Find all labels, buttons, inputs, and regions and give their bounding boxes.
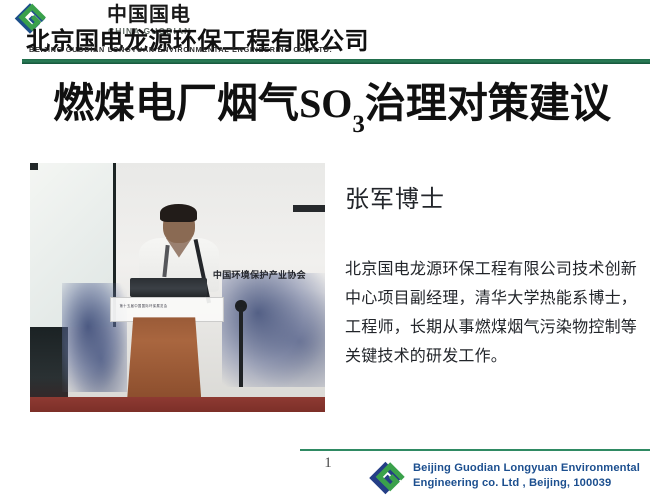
speaker-name: 张军博士 <box>345 185 445 215</box>
brand-header: 中国国电 CHINA GUODIAN 北京国电龙源环保工程有限公司 BEIJIN… <box>0 0 664 70</box>
photo-backdrop-text: 中国环境保护产业协会 <box>213 268 306 281</box>
speaker-photo: 第十五届中国国际环保展览会 中国环境保护产业协会 <box>30 163 325 412</box>
title-part-1: 燃煤电厂烟气 <box>53 80 299 126</box>
footer-line-2: Engineering co. Ltd , Beijing, 100039 <box>413 476 663 491</box>
slide-title: 燃煤电厂烟气SO3治理对策建议 <box>0 78 664 144</box>
photo-podium <box>127 317 201 397</box>
footer-guodian-logo-icon <box>367 461 407 495</box>
photo-banner-text: 第十五届中国国际环保展览会 <box>120 303 168 308</box>
footer-company-text: Beijing Guodian Longyuan Environmental E… <box>413 461 663 491</box>
footer-divider <box>300 449 650 451</box>
photo-screen-shadow <box>30 163 38 170</box>
title-part-2: 治理对策建议 <box>365 80 611 126</box>
photo-speaker-hair <box>160 204 197 221</box>
title-formula-subscript: 3 <box>352 111 365 138</box>
title-formula-so: SO <box>299 81 352 126</box>
photo-floor <box>30 397 325 412</box>
speaker-bio: 北京国电龙源环保工程有限公司技术创新中心项目副经理，清华大学热能系博士，工程师，… <box>345 255 637 371</box>
company-name-en: BEIJING GUODIAN LONGYUAN ENVIRONMENTAL E… <box>29 45 332 54</box>
photo-ink-wash-right <box>222 273 325 388</box>
photo-laptop <box>130 278 207 298</box>
photo-microphone-pole <box>239 307 242 387</box>
photo-dark-mark <box>293 205 325 211</box>
brand-cn-short: 中国国电 <box>107 4 191 26</box>
presentation-slide: 中国国电 CHINA GUODIAN 北京国电龙源环保工程有限公司 BEIJIN… <box>0 0 664 502</box>
page-number: 1 <box>318 455 338 472</box>
header-divider <box>22 59 650 64</box>
footer-line-1: Beijing Guodian Longyuan Environmental <box>413 461 663 476</box>
